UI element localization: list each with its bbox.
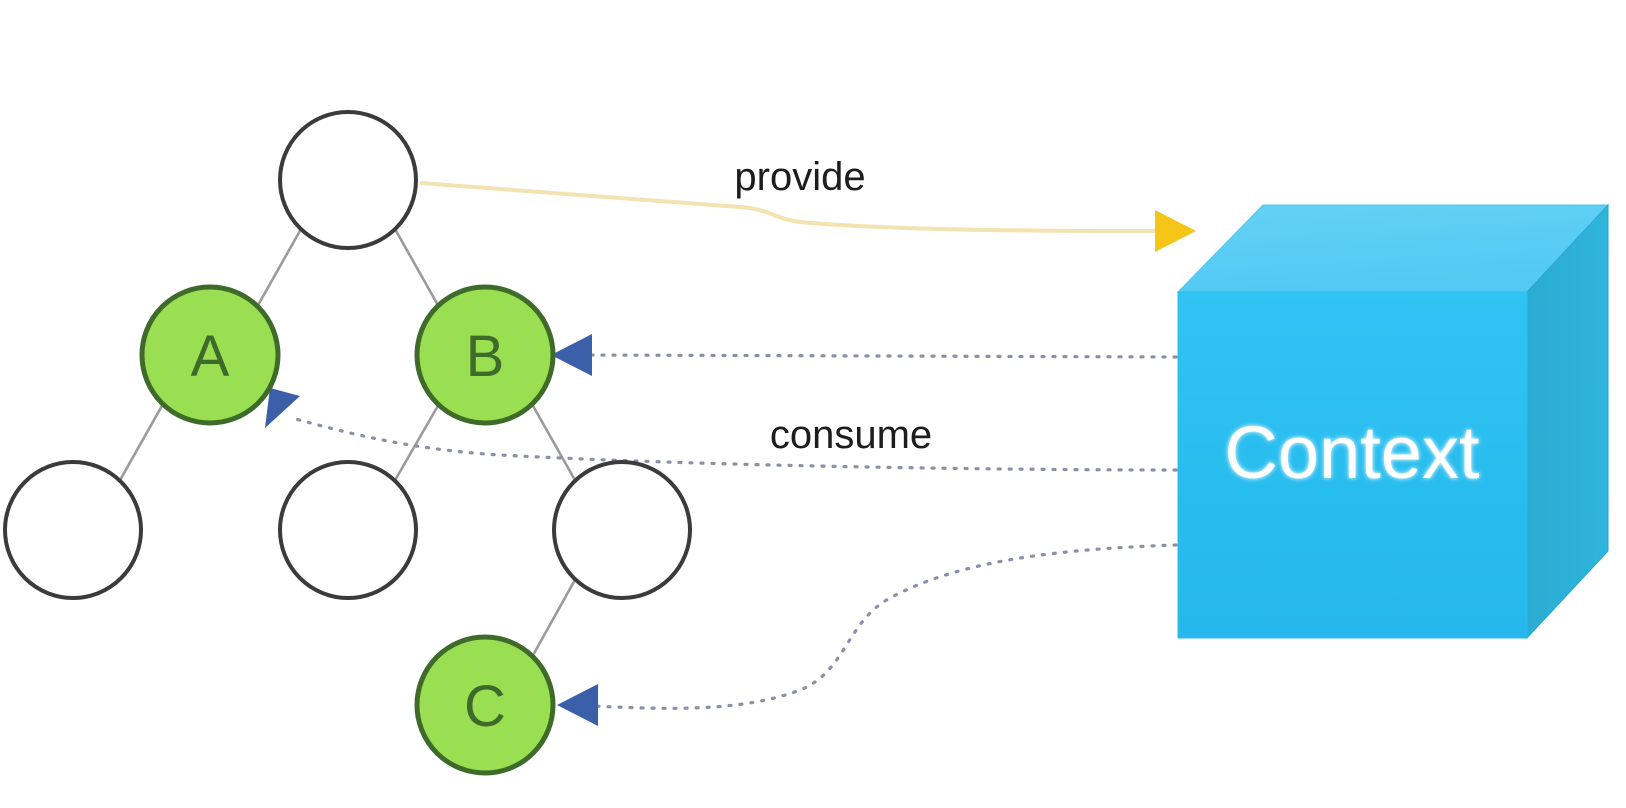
context-provide-consume-diagram: provide consume A B <box>0 0 1626 808</box>
consume-arrowhead-b <box>551 334 592 376</box>
node-circle-leaf2[interactable] <box>280 462 416 598</box>
cube-label: Context <box>1224 411 1479 494</box>
node-label-b: B <box>466 324 505 389</box>
tree-node-leaf3[interactable] <box>554 462 690 598</box>
provide-label: provide <box>734 155 865 199</box>
tree-edge-b-leaf2 <box>394 404 439 482</box>
tree-node-b[interactable]: B <box>417 287 553 423</box>
tree-edge-leaf3-c <box>532 578 576 657</box>
diagram-canvas: provide consume A B <box>0 0 1626 808</box>
tree-edge-a-leaf1 <box>119 404 163 482</box>
tree-edge-root-a <box>257 229 301 307</box>
consume-arrowhead-a <box>265 388 300 428</box>
tree-nodes: A B C <box>5 112 690 773</box>
tree-edge-b-leaf3 <box>532 404 576 482</box>
consume-connectors <box>292 355 1176 708</box>
context-cube[interactable]: Context <box>1178 205 1608 638</box>
consume-line-to-b <box>585 355 1176 357</box>
tree-node-a[interactable]: A <box>142 287 278 423</box>
tree-node-leaf2[interactable] <box>280 462 416 598</box>
consume-label: consume <box>770 413 932 457</box>
consume-arrowhead-c <box>557 684 598 726</box>
provide-arrowhead <box>1155 210 1196 252</box>
tree-node-c[interactable]: C <box>417 637 553 773</box>
node-circle-root[interactable] <box>280 112 416 248</box>
consume-line-to-a <box>292 418 1176 470</box>
node-label-c: C <box>464 674 506 739</box>
tree-node-root[interactable] <box>280 112 416 248</box>
tree-node-leaf1[interactable] <box>5 462 141 598</box>
tree-edge-root-b <box>395 229 439 307</box>
node-circle-leaf3[interactable] <box>554 462 690 598</box>
node-circle-leaf1[interactable] <box>5 462 141 598</box>
node-label-a: A <box>191 324 230 389</box>
